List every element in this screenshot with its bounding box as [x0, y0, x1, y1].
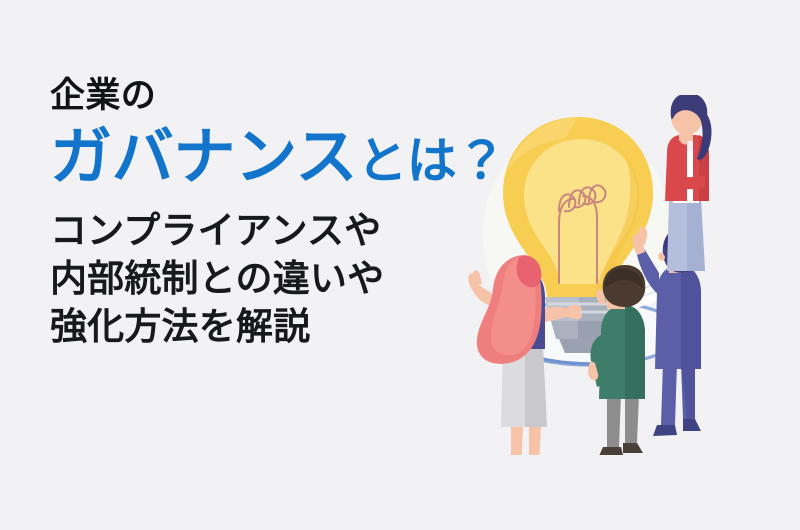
- subtitle-line-2: 内部統制との違いや: [50, 255, 520, 303]
- subtitle-line-3: 強化方法を解説: [50, 303, 520, 351]
- eyebrow-text: 企業の: [50, 78, 520, 113]
- page-title-main: ガバナンス: [50, 123, 357, 192]
- subtitle-block: コンプライアンスや 内部統制との違いや 強化方法を解説: [50, 207, 520, 351]
- lightbulb-team-illustration: [455, 95, 755, 455]
- figure-woman-thinking: [665, 95, 712, 271]
- subtitle-line-1: コンプライアンスや: [50, 207, 520, 255]
- page-title: ガバナンスとは？: [50, 127, 520, 189]
- headline-text-block: 企業の ガバナンスとは？ コンプライアンスや 内部統制との違いや 強化方法を解説: [50, 78, 520, 351]
- banner-root: 企業の ガバナンスとは？ コンプライアンスや 内部統制との違いや 強化方法を解説: [0, 0, 800, 530]
- figure-man-green-sweater: [588, 265, 645, 455]
